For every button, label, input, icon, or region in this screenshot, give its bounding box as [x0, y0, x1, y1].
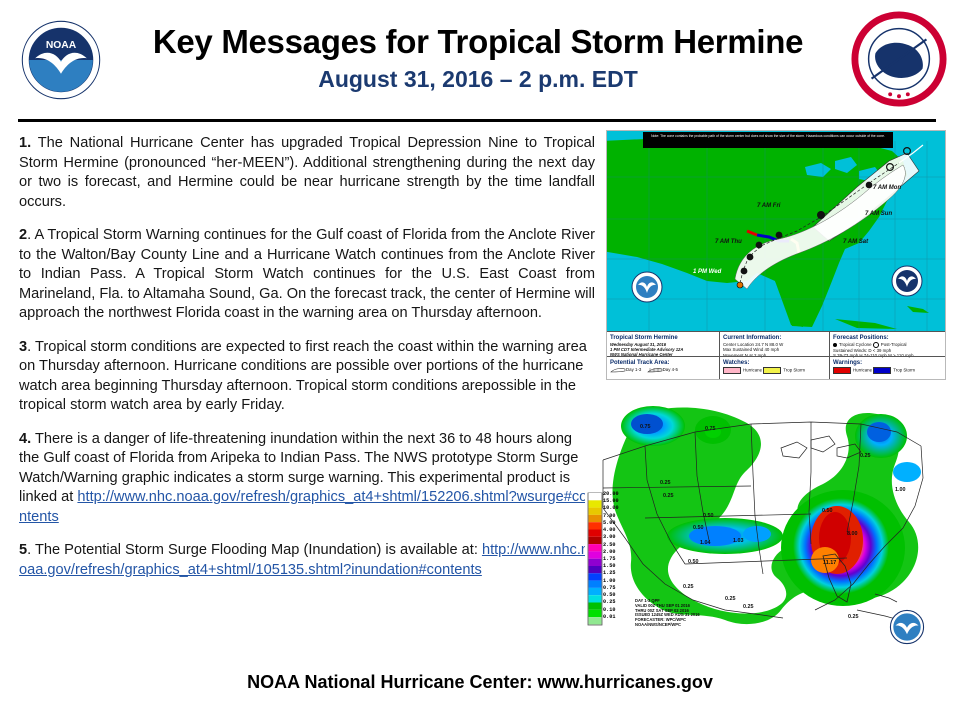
- day-1-3-cone-icon: [610, 367, 626, 373]
- legend-day-4-5: Day 4-5: [663, 367, 678, 372]
- qpf-contour-label: 0.25: [660, 480, 671, 486]
- key-message-3-number: 3: [19, 339, 27, 355]
- legend-sustained-winds-label: Sustained Winds:: [833, 348, 867, 353]
- legend-warning-trop-storm: Trop Storm: [893, 368, 915, 373]
- track-label-7-am-thu: 7 AM Thu: [715, 239, 742, 245]
- qpf-metadata: DAY 1-3 QPF VALID 00Z THU SEP 01 2016 TH…: [635, 599, 725, 628]
- qpf-contour-label: 0.25: [683, 584, 694, 590]
- qpf-scale-label: 7.00: [603, 513, 629, 520]
- legend-day-1-3: Day 1-3: [626, 367, 641, 372]
- legend-potential-track-area: Potential Track Area: Day 1-3 Day 4-5: [607, 357, 719, 380]
- key-message-2: 2. A Tropical Storm Warning continues fo…: [19, 226, 595, 324]
- page-footer: NOAA National Hurricane Center: www.hurr…: [0, 672, 960, 693]
- cone-map-graphic: 1 PM Wed 7 AM Thu 7 AM Fri 7 AM Sat 7 AM…: [607, 131, 945, 331]
- qpf-scale-label: 10.00: [603, 505, 629, 512]
- key-message-3: 3. Tropical storm conditions are expecte…: [19, 338, 595, 416]
- key-message-4-number: 4.: [19, 431, 31, 447]
- key-message-5: 5. The Potential Storm Surge Flooding Ma…: [19, 541, 595, 580]
- qpf-contour-label: 8.00: [847, 531, 858, 537]
- qpf-meta-line: NOAA/NWS/NCEP/WPC: [635, 623, 725, 628]
- track-label-7-am-sun: 7 AM Sun: [865, 211, 892, 217]
- cone-map-canvas: 1 PM Wed 7 AM Thu 7 AM Fri 7 AM Sat 7 AM…: [607, 131, 945, 331]
- key-messages-list: 1. The National Hurricane Center has upg…: [19, 134, 595, 594]
- hurricane-warning-swatch: [833, 367, 851, 374]
- track-label-7-am-sat: 7 AM Sat: [843, 239, 869, 245]
- hurricane-watch-swatch: [723, 367, 741, 374]
- cone-map-legend: Tropical Storm Hermine Wednesday August …: [607, 331, 945, 379]
- qpf-contour-label: 0.25: [848, 614, 859, 620]
- legend-row-top: Tropical Storm Hermine Wednesday August …: [607, 332, 945, 356]
- header-text-block: Key Messages for Tropical Storm Hermine …: [104, 22, 852, 94]
- qpf-scale-label: 1.00: [603, 578, 629, 585]
- qpf-contour-label: 0.25: [860, 453, 871, 459]
- qpf-scale-label: 4.00: [603, 527, 629, 534]
- legend-watches-title: Watches:: [723, 359, 826, 367]
- qpf-scale-label: 0.10: [603, 607, 629, 614]
- track-label-1-pm-wed: 1 PM Wed: [693, 269, 722, 275]
- national-weather-service-logo: [850, 10, 948, 108]
- page-subtitle: August 31, 2016 – 2 p.m. EDT: [104, 64, 852, 94]
- qpf-contour-label: 0.50: [693, 525, 704, 531]
- legend-potential-track-title: Potential Track Area:: [610, 359, 716, 367]
- qpf-contour-label: 0.50: [688, 559, 699, 565]
- tropical-cyclone-icon: [833, 343, 837, 347]
- qpf-scale-label: 1.75: [603, 556, 629, 563]
- legend-post-tropical: Post-Tropical: [881, 342, 907, 347]
- qpf-scale-label: 0.50: [603, 592, 629, 599]
- qpf-scale-label: 20.00: [603, 491, 629, 498]
- qpf-scale-label: 2.00: [603, 549, 629, 556]
- track-label-7-am-mon: 7 AM Mon: [873, 185, 901, 191]
- legend-current-info-title: Current Information:: [723, 334, 826, 342]
- precipitation-forecast-map[interactable]: 20.00 15.00 10.00 7.00 5.00 4.00 3.00 2.…: [585, 388, 947, 653]
- legend-current-information: Current Information: Center Location 24.…: [719, 332, 829, 356]
- ts-warning-swatch: [873, 367, 891, 374]
- key-message-5-text: . The Potential Storm Surge Flooding Map…: [27, 542, 482, 558]
- legend-warnings: Warnings: Hurricane Trop Storm: [829, 357, 945, 380]
- qpf-scale-label: 1.50: [603, 563, 629, 570]
- day-4-5-cone-icon: [647, 367, 663, 373]
- legend-tropical-cyclone: Tropical Cyclone: [839, 342, 872, 347]
- key-message-4: 4. There is a danger of life-threatening…: [19, 430, 595, 528]
- page-header: NOAA Key Messages for Tropical Storm Her…: [0, 0, 960, 118]
- qpf-contour-label: 0.75: [640, 424, 651, 430]
- qpf-scale-label: 0.25: [603, 599, 629, 606]
- noaa-badge-icon: [889, 609, 925, 645]
- legend-wind-d: D < 39 mph: [868, 348, 891, 353]
- legend-warning-swatches: Hurricane Trop Storm: [833, 367, 942, 374]
- cone-disclaimer-note: Note: The cone contains the probable pat…: [643, 132, 893, 148]
- qpf-contour-label: 0.25: [743, 604, 754, 610]
- legend-forecast-positions-title: Forecast Positions:: [833, 334, 942, 342]
- qpf-contour-label: 1.00: [895, 487, 906, 493]
- page-title: Key Messages for Tropical Storm Hermine: [104, 22, 852, 62]
- qpf-scale-label: 1.25: [603, 570, 629, 577]
- forecast-cone-map[interactable]: 1 PM Wed 7 AM Thu 7 AM Fri 7 AM Sat 7 AM…: [606, 130, 946, 380]
- legend-warning-hurricane: Hurricane: [853, 368, 872, 373]
- qpf-scale-label: 0.01: [603, 614, 629, 621]
- qpf-contour-label: 0.50: [822, 508, 833, 514]
- qpf-contour-label: 0.50: [703, 513, 714, 519]
- key-message-5-number: 5: [19, 542, 27, 558]
- legend-forecast-positions: Forecast Positions: Tropical Cyclone Pos…: [829, 332, 945, 356]
- noaa-logo: NOAA: [18, 14, 104, 106]
- qpf-scale-label: 3.00: [603, 534, 629, 541]
- storm-surge-watch-warning-link[interactable]: http://www.nhc.noaa.gov/refresh/graphics…: [19, 489, 587, 525]
- qpf-scale-label: 2.50: [603, 542, 629, 549]
- legend-watch-hurricane: Hurricane: [743, 368, 762, 373]
- key-message-3-text: . Tropical storm conditions are expected…: [19, 339, 587, 414]
- legend-storm-name: Tropical Storm Hermine: [610, 334, 716, 342]
- qpf-scale-label: 15.00: [603, 498, 629, 505]
- legend-watch-swatches: Hurricane Trop Storm: [723, 367, 826, 374]
- qpf-scale-label: 5.00: [603, 520, 629, 527]
- key-message-1-number: 1.: [19, 135, 31, 151]
- svg-text:NOAA: NOAA: [46, 40, 77, 51]
- legend-track-days: Day 1-3 Day 4-5: [610, 367, 716, 373]
- key-message-2-number: 2: [19, 227, 27, 243]
- key-message-2-text: . A Tropical Storm Warning continues for…: [19, 227, 595, 321]
- key-message-1: 1. The National Hurricane Center has upg…: [19, 134, 595, 212]
- key-message-1-text: The National Hurricane Center has upgrad…: [19, 135, 595, 210]
- legend-watch-trop-storm: Trop Storm: [783, 368, 805, 373]
- qpf-scale-label: 0.75: [603, 585, 629, 592]
- qpf-color-scale: [588, 493, 602, 625]
- track-label-7-am-fri: 7 AM Fri: [757, 203, 781, 209]
- qpf-contour-label: 0.25: [663, 493, 674, 499]
- qpf-contour-label: 1.03: [733, 538, 744, 544]
- legend-row-bottom: Potential Track Area: Day 1-3 Day 4-5 Wa…: [607, 356, 945, 380]
- ts-watch-swatch: [763, 367, 781, 374]
- qpf-contour-label: 1.04: [700, 540, 711, 546]
- qpf-contour-label: 0.75: [705, 426, 716, 432]
- qpf-contour-label: 11.17: [823, 560, 836, 566]
- legend-warnings-title: Warnings:: [833, 359, 942, 367]
- qpf-contour-label: 0.25: [725, 596, 736, 602]
- header-divider: [18, 119, 936, 122]
- qpf-scale-labels: 20.00 15.00 10.00 7.00 5.00 4.00 3.00 2.…: [603, 491, 629, 621]
- legend-storm-info: Tropical Storm Hermine Wednesday August …: [607, 332, 719, 356]
- legend-watches: Watches: Hurricane Trop Storm: [719, 357, 829, 380]
